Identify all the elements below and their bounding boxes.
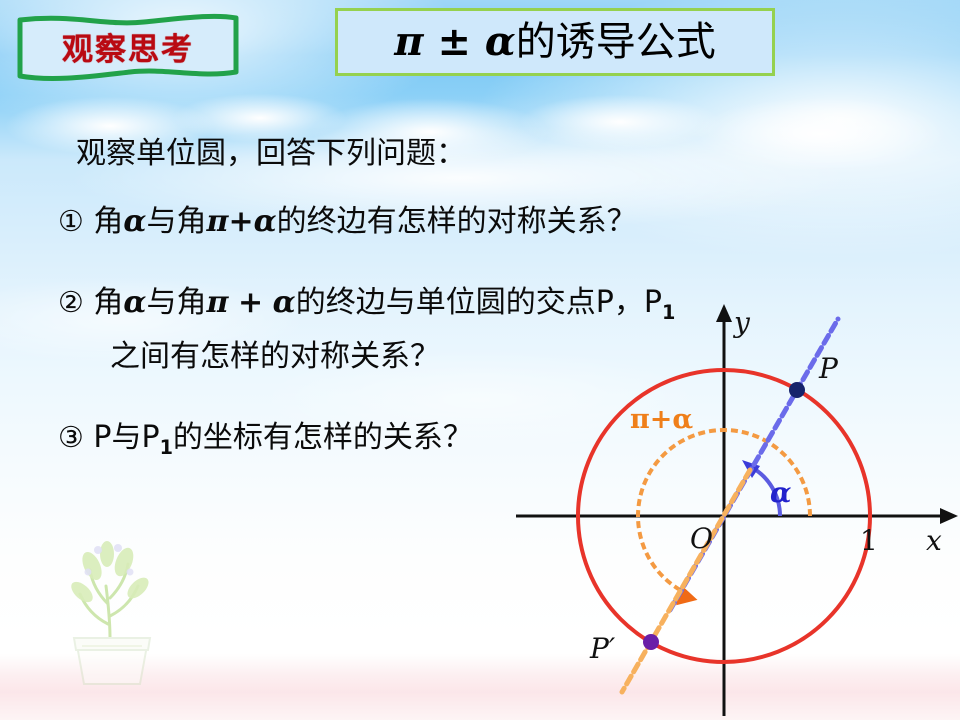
title-suffix: 的诱导公式: [516, 19, 716, 65]
q2-alpha: α: [123, 285, 146, 320]
q1-yu: 与: [146, 204, 176, 239]
q1-alpha-2: α: [254, 204, 277, 239]
question-1-line: ① 角α与角π+α的终边有怎样的对称关系？: [58, 196, 637, 240]
q1-jiao: 角: [93, 204, 123, 239]
slide-title-box: π ± α的诱导公式: [335, 8, 775, 76]
question-3-marker: ③: [58, 420, 84, 454]
pi-plus-alpha-label: π+α: [630, 404, 693, 435]
point-p-marker: [789, 382, 805, 398]
observe-think-banner: 观察思考: [14, 12, 242, 82]
point-p-prime-label: P′: [589, 632, 616, 665]
unit-circle-figure: P P′ O 1 x y π+α α: [512, 296, 960, 720]
point-p-label: P: [818, 352, 839, 385]
alpha-label: α: [770, 476, 792, 509]
q1-alpha: α: [123, 204, 146, 239]
page-title: π ± α的诱导公式: [394, 22, 715, 62]
q3-subscript: 1: [160, 436, 173, 459]
q2-pi: π: [206, 285, 228, 320]
q3-p: P: [93, 420, 111, 455]
question-1-marker: ①: [58, 204, 84, 238]
q2-alpha-2: α: [273, 285, 296, 320]
q2-jiao: 角: [93, 285, 123, 320]
q1-tail: 的终边有怎样的对称关系？: [277, 204, 637, 239]
question-2-line-2: 之间有怎样的对称关系？: [110, 331, 440, 375]
slide-canvas: 观察思考 π ± α的诱导公式 观察单位圆，回答下列问题： ① 角α与角π+α的…: [0, 0, 960, 720]
x-axis-label: x: [926, 524, 942, 557]
x-axis: [516, 508, 958, 524]
q3-p1: P: [141, 420, 159, 455]
intro-line: 观察单位圆，回答下列问题：: [76, 128, 466, 172]
q3-tail: 的坐标有怎样的关系？: [173, 420, 473, 455]
question-2-marker: ②: [58, 285, 84, 319]
q2-plus: +: [238, 285, 263, 320]
point-p-prime-marker: [643, 634, 659, 650]
question-3-line: ③ P与P1的坐标有怎样的关系？: [58, 412, 473, 459]
unit-circle-svg: P P′ O 1 x y π+α α: [512, 296, 960, 720]
q3-yu: 与: [111, 420, 141, 455]
y-axis-label: y: [732, 306, 751, 339]
banner-label: 观察思考: [14, 12, 242, 82]
q1-jiao-2: 角: [176, 204, 206, 239]
q1-plus: +: [228, 204, 253, 239]
title-formula: π ± α: [394, 18, 515, 65]
q2-yu: 与: [146, 285, 176, 320]
q1-pi: π: [206, 204, 228, 239]
unit-tick-label: 1: [860, 524, 878, 557]
q2-jiao-2: 角: [176, 285, 206, 320]
origin-label: O: [690, 522, 713, 555]
